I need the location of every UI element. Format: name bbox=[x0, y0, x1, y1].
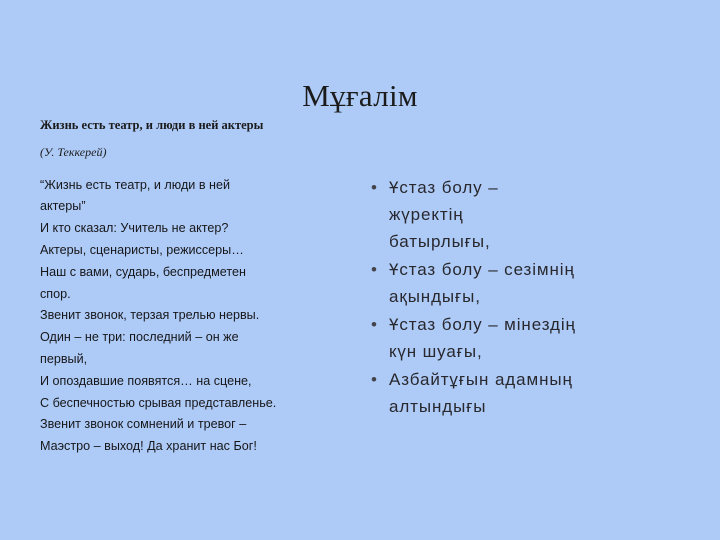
epigraph-author: (У. Теккерей) bbox=[40, 144, 350, 161]
bullet-point-icon: • bbox=[366, 174, 389, 201]
list-item: • Ұстаз болу – мінездің күн шуағы, bbox=[366, 311, 704, 365]
bullet-point-icon: • bbox=[366, 256, 389, 283]
page-title: Мұғалім bbox=[0, 79, 720, 113]
list-item-label: Ұстаз болу – сезімнің ақындығы, bbox=[389, 256, 704, 310]
list-item: • Азбайтұғын адамның алтындығы bbox=[366, 366, 704, 420]
bullet-list: • Ұстаз болу – жүректің батырлығы, • Ұст… bbox=[366, 174, 704, 421]
bullet-point-icon: • bbox=[366, 311, 389, 338]
list-item-label: Ұстаз болу – жүректің батырлығы, bbox=[389, 174, 704, 255]
left-text-column: Жизнь есть театр, и люди в ней актеры (У… bbox=[40, 116, 350, 458]
bullet-point-icon: • bbox=[366, 366, 389, 393]
epigraph-quote: Жизнь есть театр, и люди в ней актеры bbox=[40, 116, 350, 135]
list-item-label: Ұстаз болу – мінездің күн шуағы, bbox=[389, 311, 704, 365]
list-item: • Ұстаз болу – жүректің батырлығы, bbox=[366, 174, 704, 255]
list-item-label: Азбайтұғын адамның алтындығы bbox=[389, 366, 704, 420]
slide-canvas: Мұғалім Жизнь есть театр, и люди в ней а… bbox=[0, 0, 720, 540]
poem-body: “Жизнь есть театр, и люди в ней актеры” … bbox=[40, 175, 350, 458]
list-item: • Ұстаз болу – сезімнің ақындығы, bbox=[366, 256, 704, 310]
